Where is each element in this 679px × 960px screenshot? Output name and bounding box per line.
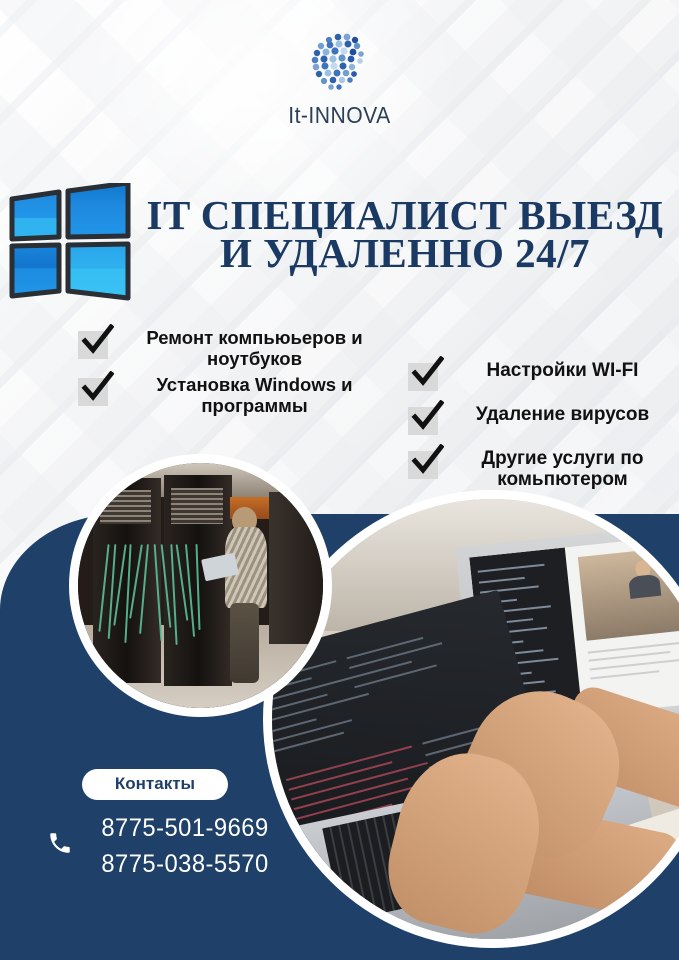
phone-icon <box>40 830 80 861</box>
list-item-label: Удаление вирусов <box>438 404 679 425</box>
contacts-block: Контакты 8775-501-9669 8775-038-5570 <box>40 769 290 883</box>
list-item: Установка Windows и программы <box>78 375 393 416</box>
list-item: Удаление вирусов <box>408 404 679 435</box>
dotted-sphere-icon <box>303 26 377 100</box>
brand-name: It-INNOVA <box>27 102 652 129</box>
services-list-right: Настройки WI-FI Удаление вирусов Другие … <box>408 360 679 504</box>
checkmark-icon <box>78 378 108 406</box>
headline-line-2: И УДАЛЕННО 24/7 <box>120 234 679 272</box>
list-item-label: Настройки WI-FI <box>438 360 679 381</box>
phone-number-2[interactable]: 8775-038-5570 <box>85 846 285 882</box>
contacts-title-badge: Контакты <box>82 769 228 800</box>
list-item-label: Ремонт компьюьеров и ноутбуков <box>108 328 393 369</box>
list-item-label: Другие услуги по комьпютером <box>438 448 679 491</box>
checkmark-icon <box>78 331 108 359</box>
windows-logo-icon <box>4 183 136 305</box>
server-room-photo <box>78 463 323 708</box>
checkmark-icon <box>408 363 438 391</box>
page-title: IT СПЕЦИАЛИСТ ВЫЕЗД И УДАЛЕННО 24/7 <box>120 196 679 272</box>
poster-canvas: It-INNOVA <box>0 0 679 960</box>
list-item-label: Установка Windows и программы <box>108 375 393 416</box>
services-list-left: Ремонт компьюьеров и ноутбуков Установка… <box>78 328 393 423</box>
checkmark-icon <box>408 407 438 435</box>
laptop-photo <box>272 499 679 939</box>
phone-number-1[interactable]: 8775-501-9669 <box>85 810 285 846</box>
headline-line-1: IT СПЕЦИАЛИСТ ВЫЕЗД <box>120 196 679 234</box>
list-item: Другие услуги по комьпютером <box>408 448 679 491</box>
checkmark-icon <box>408 451 438 479</box>
brand-logo: It-INNOVA <box>0 26 679 129</box>
list-item: Ремонт компьюьеров и ноутбуков <box>78 328 393 369</box>
list-item: Настройки WI-FI <box>408 360 679 391</box>
